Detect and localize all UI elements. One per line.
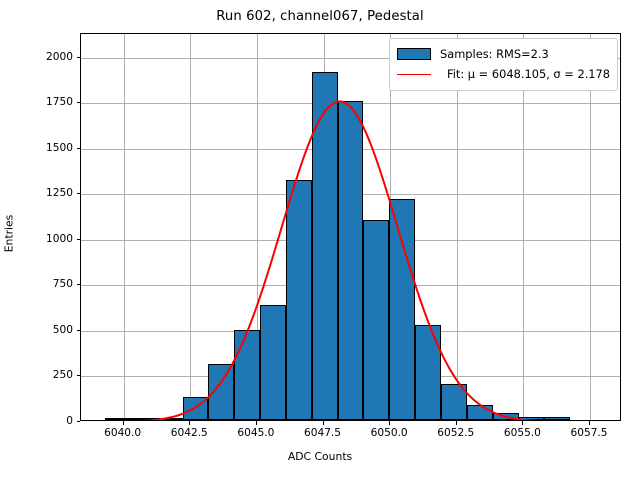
legend: Samples: RMS=2.3 Fit: μ = 6048.105, σ = …: [389, 38, 618, 91]
y-tick-label: 2000: [46, 51, 73, 63]
y-tick-mark: [77, 421, 81, 422]
x-axis-label: ADC Counts: [0, 450, 640, 463]
y-tick-mark: [77, 148, 81, 149]
x-tick-mark: [522, 421, 523, 425]
x-tick-mark: [589, 421, 590, 425]
legend-label-fit: Fit: μ = 6048.105, σ = 2.178: [447, 67, 610, 81]
gridline-vertical: [457, 34, 458, 420]
y-tick-label: 500: [53, 324, 73, 336]
y-tick-mark: [77, 375, 81, 376]
histogram-bar: [467, 405, 493, 420]
histogram-bar: [105, 418, 131, 420]
histogram-bar: [157, 418, 183, 420]
x-tick-label: 6042.5: [171, 427, 208, 439]
histogram-bar: [338, 101, 364, 420]
histogram-bar: [286, 180, 312, 420]
histogram-bar: [131, 418, 157, 420]
histogram-bar: [234, 330, 260, 420]
x-tick-mark: [389, 421, 390, 425]
histogram-bar: [312, 72, 338, 420]
y-tick-mark: [77, 57, 81, 58]
gridline-vertical: [523, 34, 524, 420]
x-tick-label: 6055.0: [504, 427, 541, 439]
histogram-bar: [389, 199, 415, 420]
y-tick-label: 250: [53, 369, 73, 381]
legend-item-samples: Samples: RMS=2.3: [397, 44, 610, 64]
histogram-bar: [415, 325, 441, 420]
y-tick-mark: [77, 330, 81, 331]
y-tick-label: 1000: [46, 233, 73, 245]
legend-line-icon: [397, 74, 431, 75]
y-tick-mark: [77, 102, 81, 103]
gridline-vertical: [590, 34, 591, 420]
histogram-bar: [441, 384, 467, 420]
page-title: Run 602, channel067, Pedestal: [0, 9, 640, 24]
histogram-bar: [208, 364, 234, 420]
x-tick-mark: [323, 421, 324, 425]
plot-area: [80, 33, 621, 421]
y-tick-label: 0: [66, 415, 73, 427]
y-axis-label: Entries: [2, 215, 15, 253]
x-tick-label: 6057.5: [570, 427, 607, 439]
histogram-bar: [183, 397, 209, 420]
x-tick-label: 6050.0: [371, 427, 408, 439]
gridline-vertical: [124, 34, 125, 420]
legend-label-samples: Samples: RMS=2.3: [440, 47, 549, 61]
gridline-vertical: [190, 34, 191, 420]
x-tick-label: 6040.0: [104, 427, 141, 439]
y-tick-mark: [77, 193, 81, 194]
x-tick-label: 6052.5: [437, 427, 474, 439]
x-tick-mark: [123, 421, 124, 425]
y-tick-mark: [77, 284, 81, 285]
legend-item-fit: Fit: μ = 6048.105, σ = 2.178: [397, 64, 610, 84]
legend-patch-icon: [397, 48, 431, 60]
histogram-bar: [493, 413, 519, 420]
y-tick-label: 1750: [46, 96, 73, 108]
histogram-bar: [260, 305, 286, 420]
histogram-bar: [519, 417, 545, 420]
histogram-bar: [544, 417, 570, 420]
x-tick-mark: [456, 421, 457, 425]
y-tick-label: 1500: [46, 142, 73, 154]
x-tick-mark: [189, 421, 190, 425]
x-tick-label: 6047.5: [304, 427, 341, 439]
y-tick-mark: [77, 239, 81, 240]
x-tick-mark: [256, 421, 257, 425]
histogram-figure: Run 602, channel067, Pedestal 6040.06042…: [0, 0, 640, 480]
x-tick-label: 6045.0: [237, 427, 274, 439]
histogram-bar: [363, 220, 389, 420]
y-tick-label: 750: [53, 278, 73, 290]
y-tick-label: 1250: [46, 187, 73, 199]
